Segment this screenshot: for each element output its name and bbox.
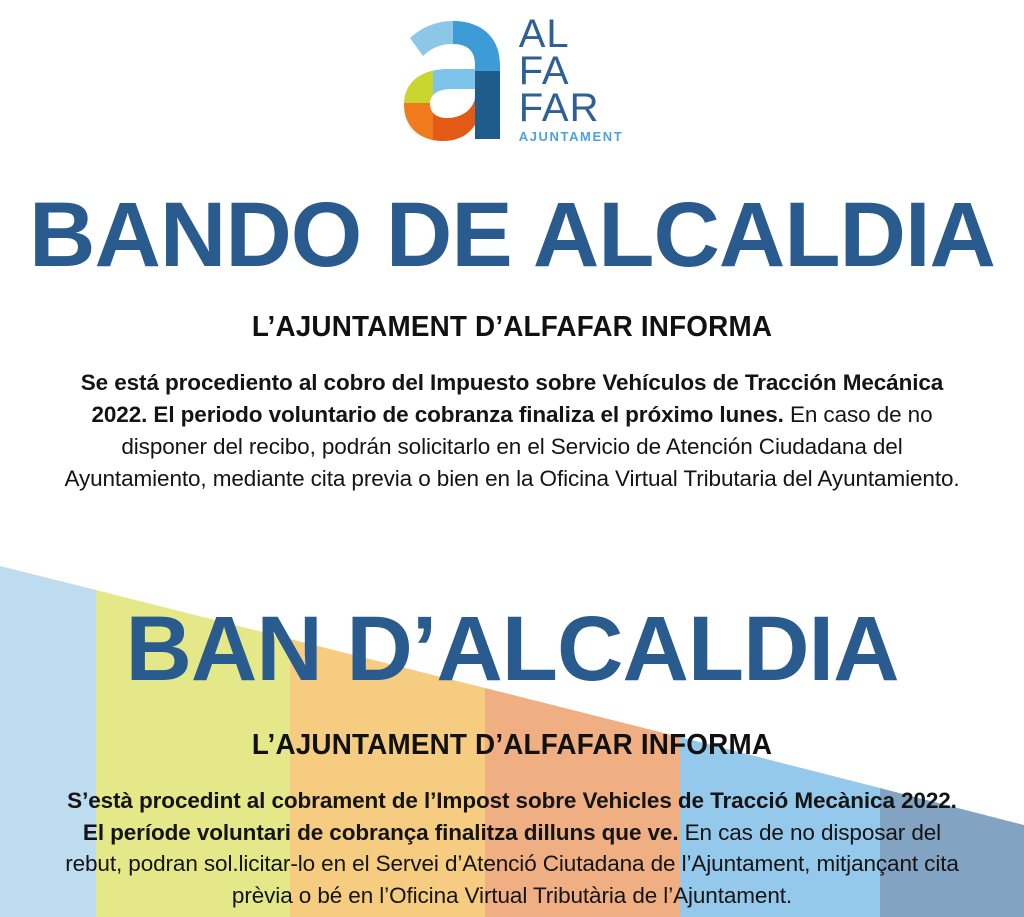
valencian-headline-slot: BAN D’ALCALDIA xyxy=(0,603,1024,695)
logo-word-far: FAR xyxy=(519,90,600,127)
logo-wordmark: AL FA FAR AJUNTAMENT xyxy=(519,16,624,143)
logo-word-fa: FA xyxy=(519,53,570,90)
spanish-subtitle: L’AJUNTAMENT D’ALFAFAR INFORMA xyxy=(20,311,1003,344)
spanish-headline-slot: BANDO DE ALCALDIA xyxy=(0,189,1024,281)
valencian-headline: BAN D’ALCALDIA xyxy=(125,598,898,700)
alfafar-logo: AL FA FAR AJUNTAMENT xyxy=(401,16,624,143)
spanish-section: BANDO DE ALCALDIA L’AJUNTAMENT D’ALFAFAR… xyxy=(0,189,1024,494)
alfafar-a-monogram-icon xyxy=(401,19,505,141)
valencian-body: S’està procedint al cobrament de l’Impos… xyxy=(0,785,1024,913)
valencian-section: BAN D’ALCALDIA L’AJUNTAMENT D’ALFAFAR IN… xyxy=(0,603,1024,912)
spanish-body: Se está procediento al cobro del Impuest… xyxy=(0,367,1024,495)
valencian-subtitle: L’AJUNTAMENT D’ALFAFAR INFORMA xyxy=(20,729,1003,762)
logo-block: AL FA FAR AJUNTAMENT xyxy=(0,0,1024,143)
section-gap xyxy=(0,517,1024,569)
spanish-headline: BANDO DE ALCALDIA xyxy=(29,184,995,286)
poster-canvas: AL FA FAR AJUNTAMENT BANDO DE ALCALDIA L… xyxy=(0,0,1024,917)
logo-subtitle: AJUNTAMENT xyxy=(519,131,624,143)
logo-word-al: AL xyxy=(519,16,570,53)
poster-content: AL FA FAR AJUNTAMENT BANDO DE ALCALDIA L… xyxy=(0,0,1024,912)
